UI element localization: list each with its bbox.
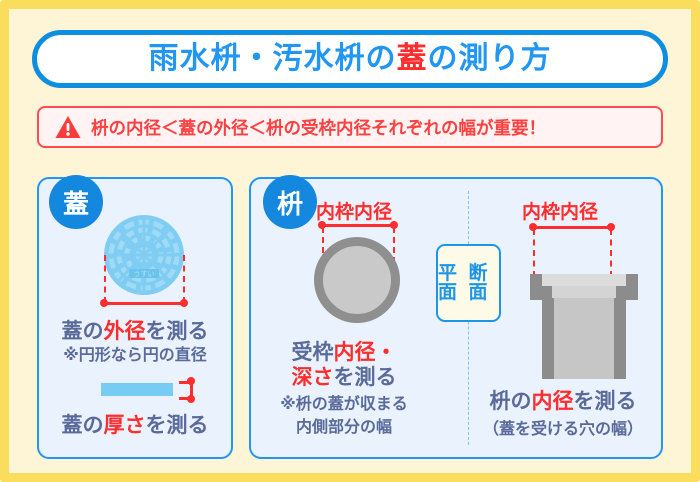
lid-caption-post: を測る [146, 319, 209, 343]
section-dim-dash-left [533, 229, 535, 277]
plan-caption-note1: ※枡の蓋が収まる [249, 390, 439, 414]
lid-thickness-post: を測る [146, 413, 209, 437]
dim-dot-right [180, 299, 188, 307]
view-type-box: 平面 断面 [436, 244, 501, 322]
lid-caption-pre: 蓋の [62, 319, 104, 343]
warning-banner: 枡の内径＜蓋の外径＜枡の受枠内径それぞれの幅が重要！ [37, 106, 663, 148]
title-banner: 雨水枡・汚水枡の蓋の測り方 [32, 30, 668, 88]
manhole-cover-icon: うすい [103, 214, 185, 296]
lid-thickness-pre: 蓋の [62, 413, 104, 437]
section-caption-note: （蓋を受ける穴の幅） [463, 415, 663, 439]
dim-dash-right [183, 255, 185, 303]
basin-cross-section-icon [524, 274, 644, 379]
badge-lid: 蓋 [49, 175, 103, 229]
view-label-section: 断面 [469, 246, 500, 320]
badge-masu: 枡 [263, 175, 317, 229]
thickness-dot-bottom [187, 395, 195, 403]
section-caption-highlight: 内径 [532, 389, 574, 413]
lid-caption-highlight: 外径 [104, 319, 146, 343]
title-prefix: 雨水枡・汚水枡の [149, 41, 397, 76]
plan-dimension-label: 内枠内径 [316, 197, 392, 224]
view-label-section-text: 断面 [469, 264, 500, 303]
badge-masu-label: 枡 [277, 184, 303, 221]
thickness-dot-top [187, 377, 195, 385]
view-label-plan-text: 平面 [438, 264, 469, 303]
badge-lid-label: 蓋 [63, 184, 89, 221]
lid-thickness-bar [101, 383, 173, 396]
infographic-root: 雨水枡・汚水枡の蓋の測り方 枡の内径＜蓋の外径＜枡の受枠内径それぞれの幅が重要！… [0, 0, 700, 482]
section-caption-main: 枡の内径を測る [463, 385, 663, 415]
plan-dim-line [322, 224, 394, 227]
section-dim-dash-right [610, 229, 612, 277]
plan-caption-line2: 深さを測る [249, 361, 439, 391]
warning-text: 枡の内径＜蓋の外径＜枡の受枠内径それぞれの幅が重要！ [91, 115, 546, 140]
dim-dot-left [100, 299, 108, 307]
manhole-center-label: うすい [134, 270, 155, 278]
section-dimension-label: 内枠内径 [522, 197, 598, 224]
section-caption-post: を測る [574, 389, 637, 413]
page-title: 雨水枡・汚水枡の蓋の測り方 [149, 44, 552, 74]
title-highlight: 蓋 [397, 41, 428, 76]
dim-line [104, 302, 184, 305]
plan-caption2-post: を測る [334, 365, 397, 389]
dim-dash-left [104, 255, 106, 303]
section-caption-pre: 枡の [490, 389, 532, 413]
infographic-inner-background: 雨水枡・汚水枡の蓋の測り方 枡の内径＜蓋の外径＜枡の受枠内径それぞれの幅が重要！… [9, 9, 691, 473]
lid-caption-thickness: 蓋の厚さを測る [37, 409, 233, 439]
plan-caption2-highlight: 深さ [292, 365, 334, 389]
title-suffix: の測り方 [428, 41, 552, 76]
lid-thickness-highlight: 厚さ [104, 413, 146, 437]
lid-caption-note: ※円形なら円の直径 [37, 341, 233, 365]
plan-caption-note2: 内側部分の幅 [249, 413, 439, 437]
warning-triangle-icon [55, 115, 81, 139]
receiving-frame-ring [314, 237, 400, 323]
section-dim-line [533, 226, 611, 229]
view-label-plan: 平面 [438, 246, 469, 320]
